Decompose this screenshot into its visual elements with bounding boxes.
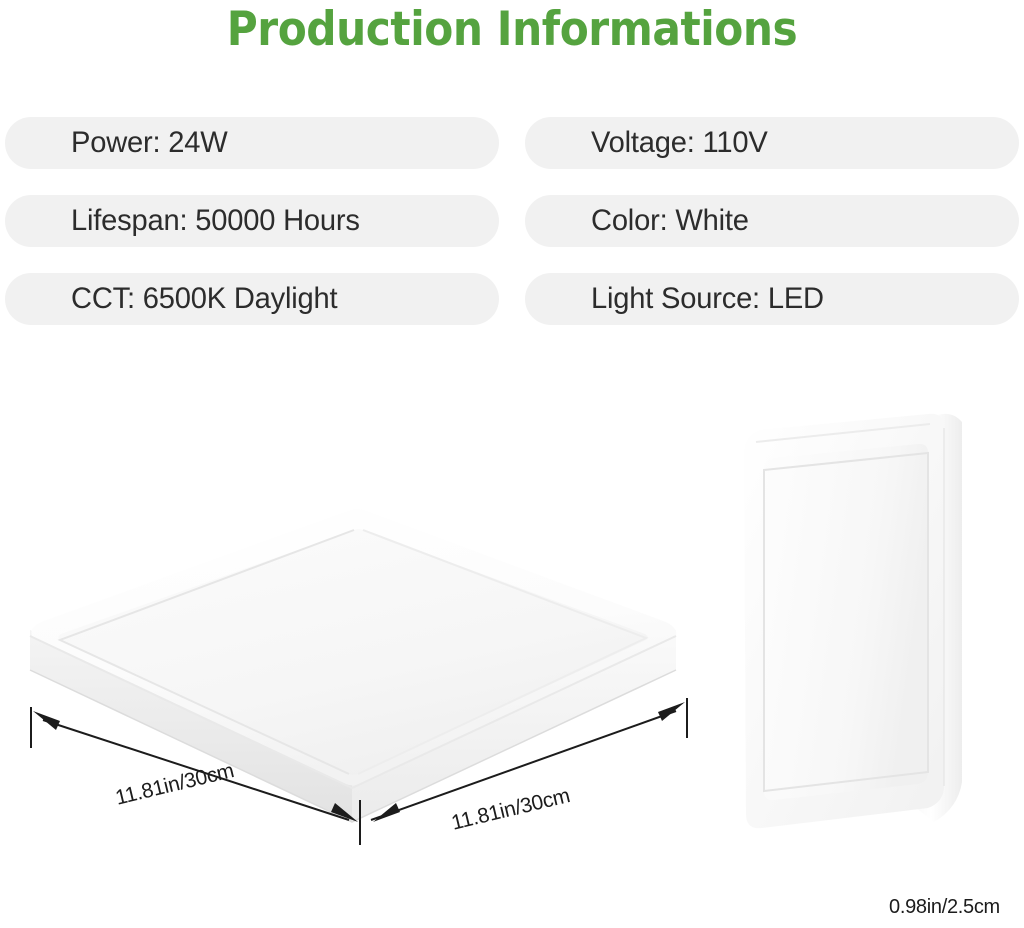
panel-diffuser (58, 529, 648, 775)
product-artwork-svg (0, 330, 1024, 928)
spec-label-color: Color: White (591, 204, 749, 238)
spec-pill-lifespan: Lifespan: 50000 Hours (5, 195, 499, 247)
specifications-grid: Power: 24W Voltage: 110V Lifespan: 50000… (5, 117, 1019, 351)
spec-pill-cct: CCT: 6500K Daylight (5, 273, 499, 325)
spec-label-light-source: Light Source: LED (591, 282, 824, 316)
spec-label-power: Power: 24W (71, 126, 228, 160)
spec-label-lifespan: Lifespan: 50000 Hours (71, 204, 360, 238)
spec-pill-voltage: Voltage: 110V (525, 117, 1019, 169)
spec-label-voltage: Voltage: 110V (591, 126, 768, 160)
spec-label-cct: CCT: 6500K Daylight (71, 282, 337, 316)
spec-row: CCT: 6500K Daylight Light Source: LED (5, 273, 1019, 325)
main-product-isometric (30, 509, 676, 822)
side-diffuser (764, 444, 928, 800)
spec-row: Power: 24W Voltage: 110V (5, 117, 1019, 169)
spec-pill-light-source: Light Source: LED (525, 273, 1019, 325)
spec-pill-power: Power: 24W (5, 117, 499, 169)
side-product-view (744, 414, 962, 828)
arrowhead-width-left (33, 711, 60, 730)
spec-pill-color: Color: White (525, 195, 1019, 247)
page-title: Production Informations (51, 2, 973, 57)
dimension-label-thickness: 0.98in/2.5cm (889, 896, 1000, 919)
arrowhead-depth-right (658, 702, 685, 721)
spec-row: Lifespan: 50000 Hours Color: White (5, 195, 1019, 247)
product-illustration-area (0, 330, 1024, 928)
